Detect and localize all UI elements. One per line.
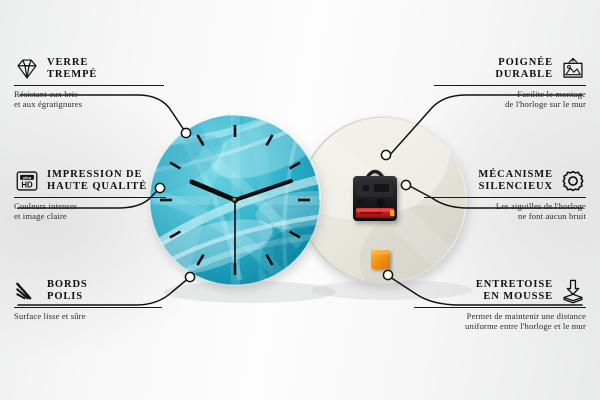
svg-text:ultra: ultra: [23, 176, 32, 180]
feature-title: BORDS POLIS: [47, 279, 88, 304]
feature-title: IMPRESSION DE HAUTE QUALITÉ: [47, 169, 147, 194]
feature-subtitle: Permet de maintenir une distance uniform…: [414, 311, 586, 332]
divider: [14, 307, 162, 308]
gear-icon: [560, 168, 586, 194]
feature-header: POIGNÉE DURABLE: [434, 56, 586, 82]
feature-title: MÉCANISME SILENCIEUX: [478, 169, 553, 194]
feature-bords-polis: BORDS POLIS Surface lisse et sûre: [14, 278, 162, 321]
feature-mecanisme-silencieux: MÉCANISME SILENCIEUX Les aiguilles de l'…: [424, 168, 586, 222]
feature-header: VERRE TREMPÉ: [14, 56, 164, 82]
foam-spacer: [371, 250, 390, 269]
divider: [434, 85, 586, 86]
foam-spacer-icon: [560, 278, 586, 304]
feature-entretoise-en-mousse: ENTRETOISE EN MOUSSE Permet de maintenir…: [414, 278, 586, 332]
diamond-icon: [14, 56, 40, 82]
feature-subtitle: Couleurs intenses et image claire: [14, 201, 166, 222]
feature-subtitle: Facilite le montage de l'horloge sur le …: [434, 89, 586, 110]
polished-edges-icon: [14, 278, 40, 304]
feature-title: VERRE TREMPÉ: [47, 57, 97, 82]
feature-subtitle: Les aiguilles de l'horloge ne font aucun…: [424, 201, 586, 222]
feature-verre-trempe: VERRE TREMPÉ Résistant aux bris et aux é…: [14, 56, 164, 110]
infographic-canvas: VERRE TREMPÉ Résistant aux bris et aux é…: [0, 0, 600, 400]
clock-face-shadow: [164, 281, 336, 303]
feature-header: BORDS POLIS: [14, 278, 162, 304]
ultra-hd-icon: ultra HD: [14, 168, 40, 194]
feature-header: MÉCANISME SILENCIEUX: [424, 168, 586, 194]
feature-title: POIGNÉE DURABLE: [495, 57, 553, 82]
divider: [14, 85, 164, 86]
feature-title: ENTRETOISE EN MOUSSE: [476, 279, 553, 304]
feature-impression-haute-qualite: ultra HD IMPRESSION DE HAUTE QUALITÉ Cou…: [14, 168, 166, 222]
divider: [14, 197, 166, 198]
quartz-movement: [353, 172, 397, 222]
feature-subtitle: Surface lisse et sûre: [14, 311, 162, 321]
svg-text:HD: HD: [21, 181, 33, 190]
divider: [414, 307, 586, 308]
wall-hanger-icon: [560, 56, 586, 82]
divider: [424, 197, 586, 198]
feature-header: ultra HD IMPRESSION DE HAUTE QUALITÉ: [14, 168, 166, 194]
feature-poignee-durable: POIGNÉE DURABLE Facilite le montage de l…: [434, 56, 586, 110]
feature-header: ENTRETOISE EN MOUSSE: [414, 278, 586, 304]
feature-subtitle: Résistant aux bris et aux égratignures: [14, 89, 164, 110]
